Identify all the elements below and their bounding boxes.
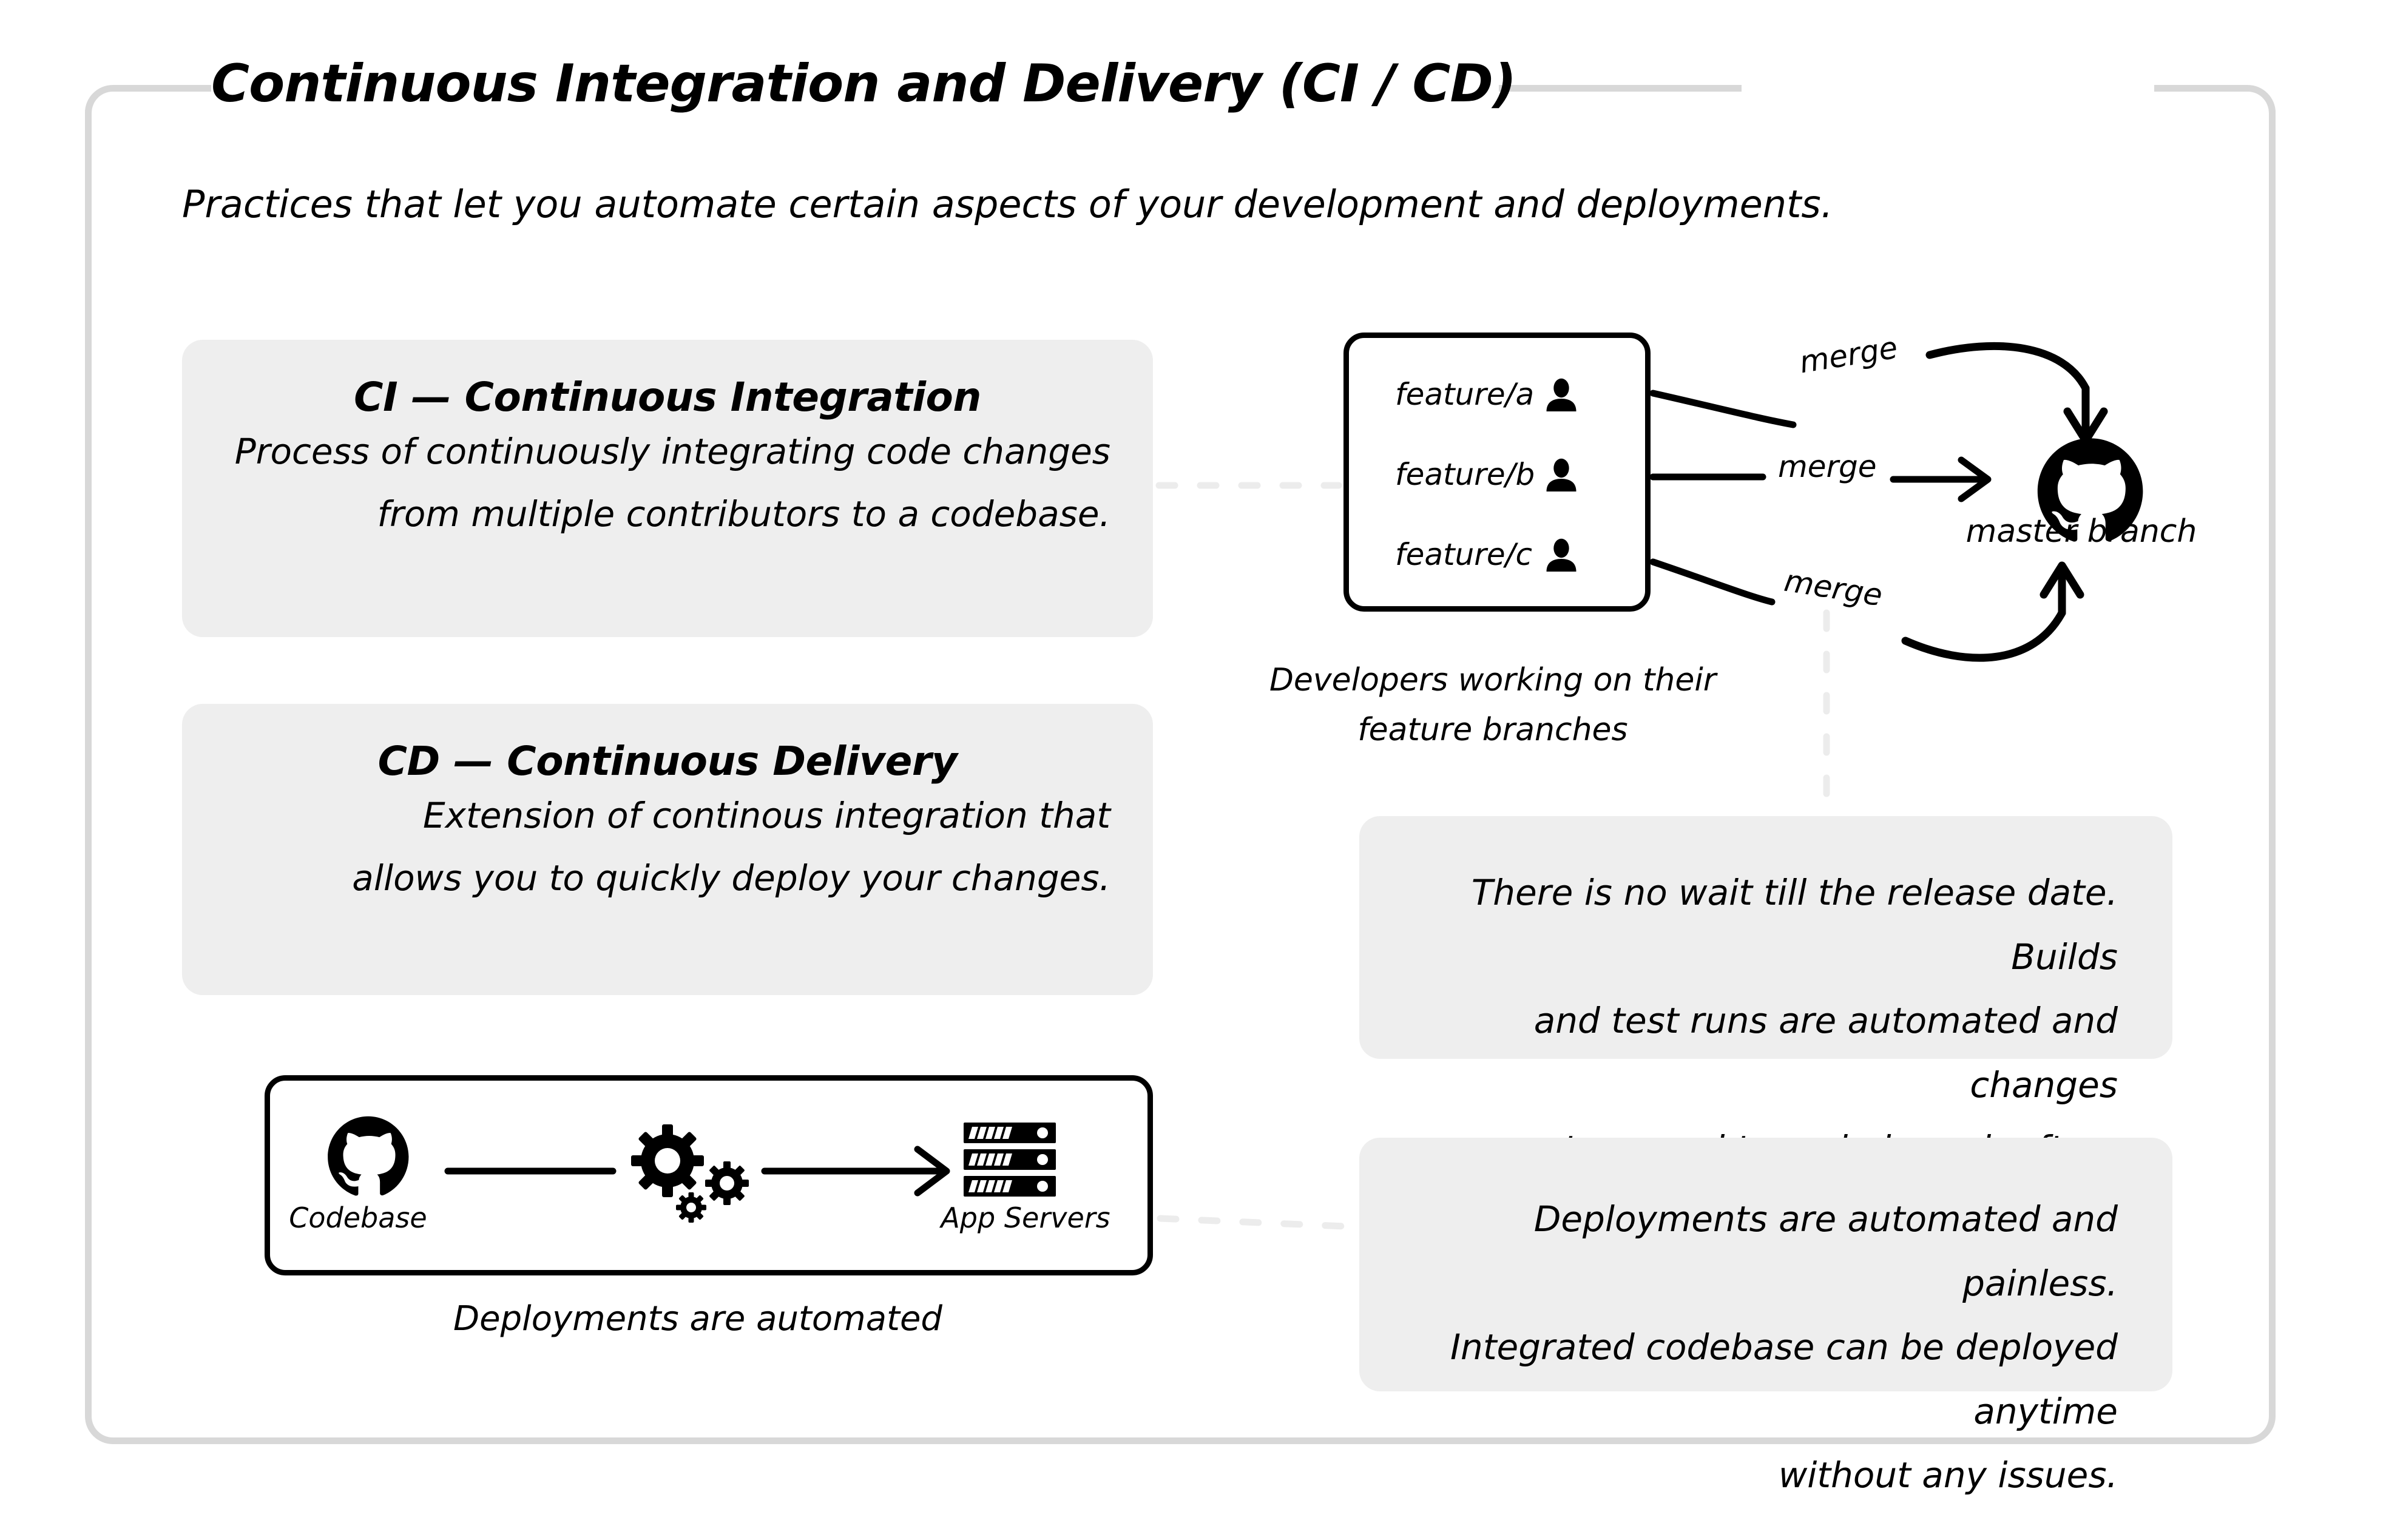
branch-label: feature/b xyxy=(1395,457,1529,492)
branch-row: feature/a xyxy=(1395,377,1578,412)
deploy-note-line-1: Deployments are automated and painless. xyxy=(1414,1187,2118,1315)
builds-note-line-1: There is no wait till the release date. … xyxy=(1414,861,2118,989)
builds-note-line-2: and test runs are automated and changes xyxy=(1414,989,2118,1117)
codebase-label: Codebase xyxy=(255,1201,461,1234)
cd-card: CD — Continuous Delivery Extension of co… xyxy=(182,704,1153,995)
branch-label: feature/a xyxy=(1395,377,1529,412)
branch-row: feature/b xyxy=(1395,457,1578,492)
person-icon xyxy=(1544,538,1578,572)
builds-note: There is no wait till the release date. … xyxy=(1359,816,2172,1059)
deploy-note-line-3: without any issues. xyxy=(1414,1444,2118,1508)
deploy-note-line-2: Integrated codebase can be deployed anyt… xyxy=(1414,1315,2118,1444)
ci-card: CI — Continuous Integration Process of c… xyxy=(182,340,1153,637)
merge-label-2: merge xyxy=(1778,449,1877,484)
person-icon xyxy=(1544,377,1578,411)
feature-branch-box: feature/a feature/b feature/c xyxy=(1343,333,1651,612)
cd-card-line-2: allows you to quickly deploy your change… xyxy=(225,847,1110,910)
cd-card-heading: CD — Continuous Delivery xyxy=(225,738,1110,785)
master-branch-label: master branch xyxy=(1930,513,2233,550)
branch-box-caption-line-1: Developers working on their xyxy=(1250,655,1735,705)
ci-card-heading: CI — Continuous Integration xyxy=(225,374,1110,420)
deploy-note: Deployments are automated and painless. … xyxy=(1359,1138,2172,1391)
page-subtitle: Practices that let you automate certain … xyxy=(182,182,1833,226)
branch-label: feature/c xyxy=(1395,537,1529,572)
ci-card-line-2: from multiple contributors to a codebase… xyxy=(225,483,1110,545)
branch-box-caption: Developers working on their feature bran… xyxy=(1250,655,1735,755)
pipeline-caption: Deployments are automated xyxy=(376,1292,1019,1346)
cd-card-line-1: Extension of continous integration that xyxy=(225,785,1110,847)
person-icon xyxy=(1544,458,1578,491)
ci-card-line-1: Process of continuously integrating code… xyxy=(225,420,1110,483)
branch-box-caption-line-2: feature branches xyxy=(1250,705,1735,755)
page-title: Continuous Integration and Delivery (CI … xyxy=(211,53,1516,114)
app-servers-label: App Servers xyxy=(898,1201,1153,1234)
branch-row: feature/c xyxy=(1395,537,1578,572)
deployment-pipeline-box xyxy=(265,1075,1153,1275)
